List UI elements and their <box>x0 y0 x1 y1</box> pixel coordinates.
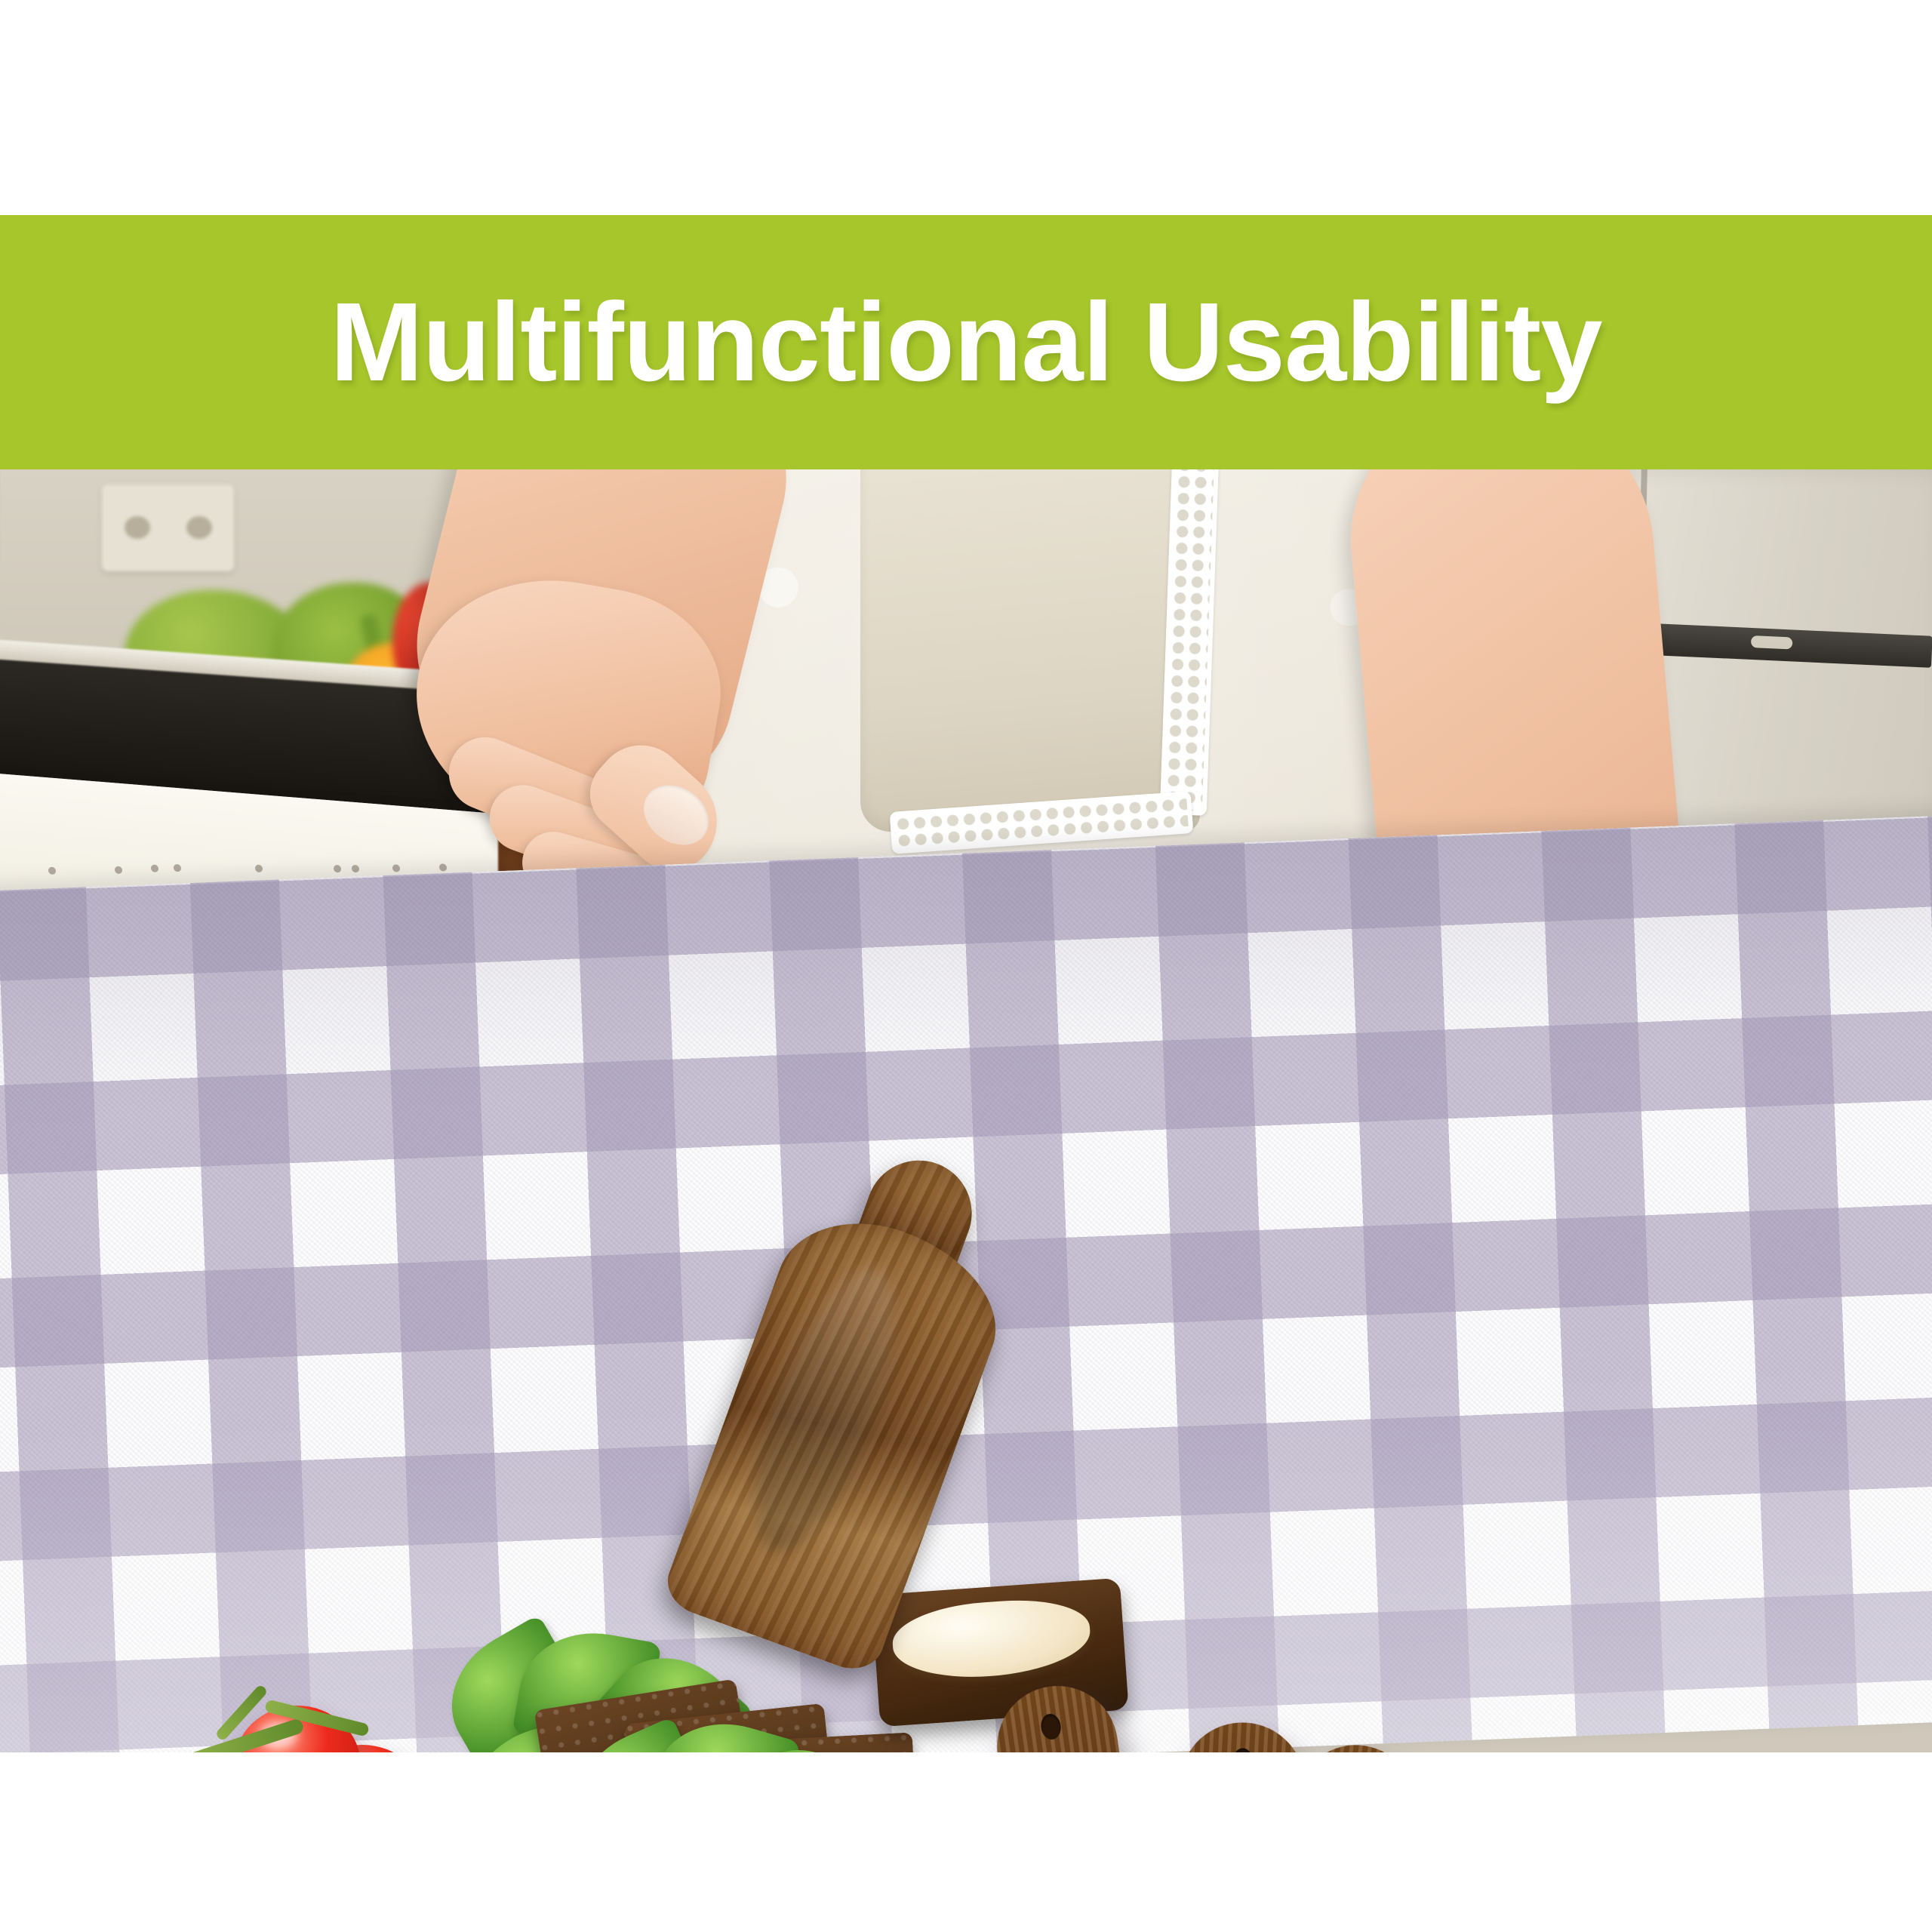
lifestyle-photo <box>0 469 1932 1752</box>
left-hand <box>415 583 770 900</box>
parsley-garnish <box>574 1722 906 1752</box>
bottom-white-margin <box>0 1752 1932 1932</box>
product-feature-image: Multifunctional Usability <box>0 0 1932 1932</box>
apron-pocket <box>860 469 1200 832</box>
headline-text: Multifunctional Usability <box>330 287 1601 398</box>
top-white-margin <box>0 0 1932 215</box>
vine-tomatoes <box>162 1692 434 1752</box>
headline-banner: Multifunctional Usability <box>0 215 1932 469</box>
